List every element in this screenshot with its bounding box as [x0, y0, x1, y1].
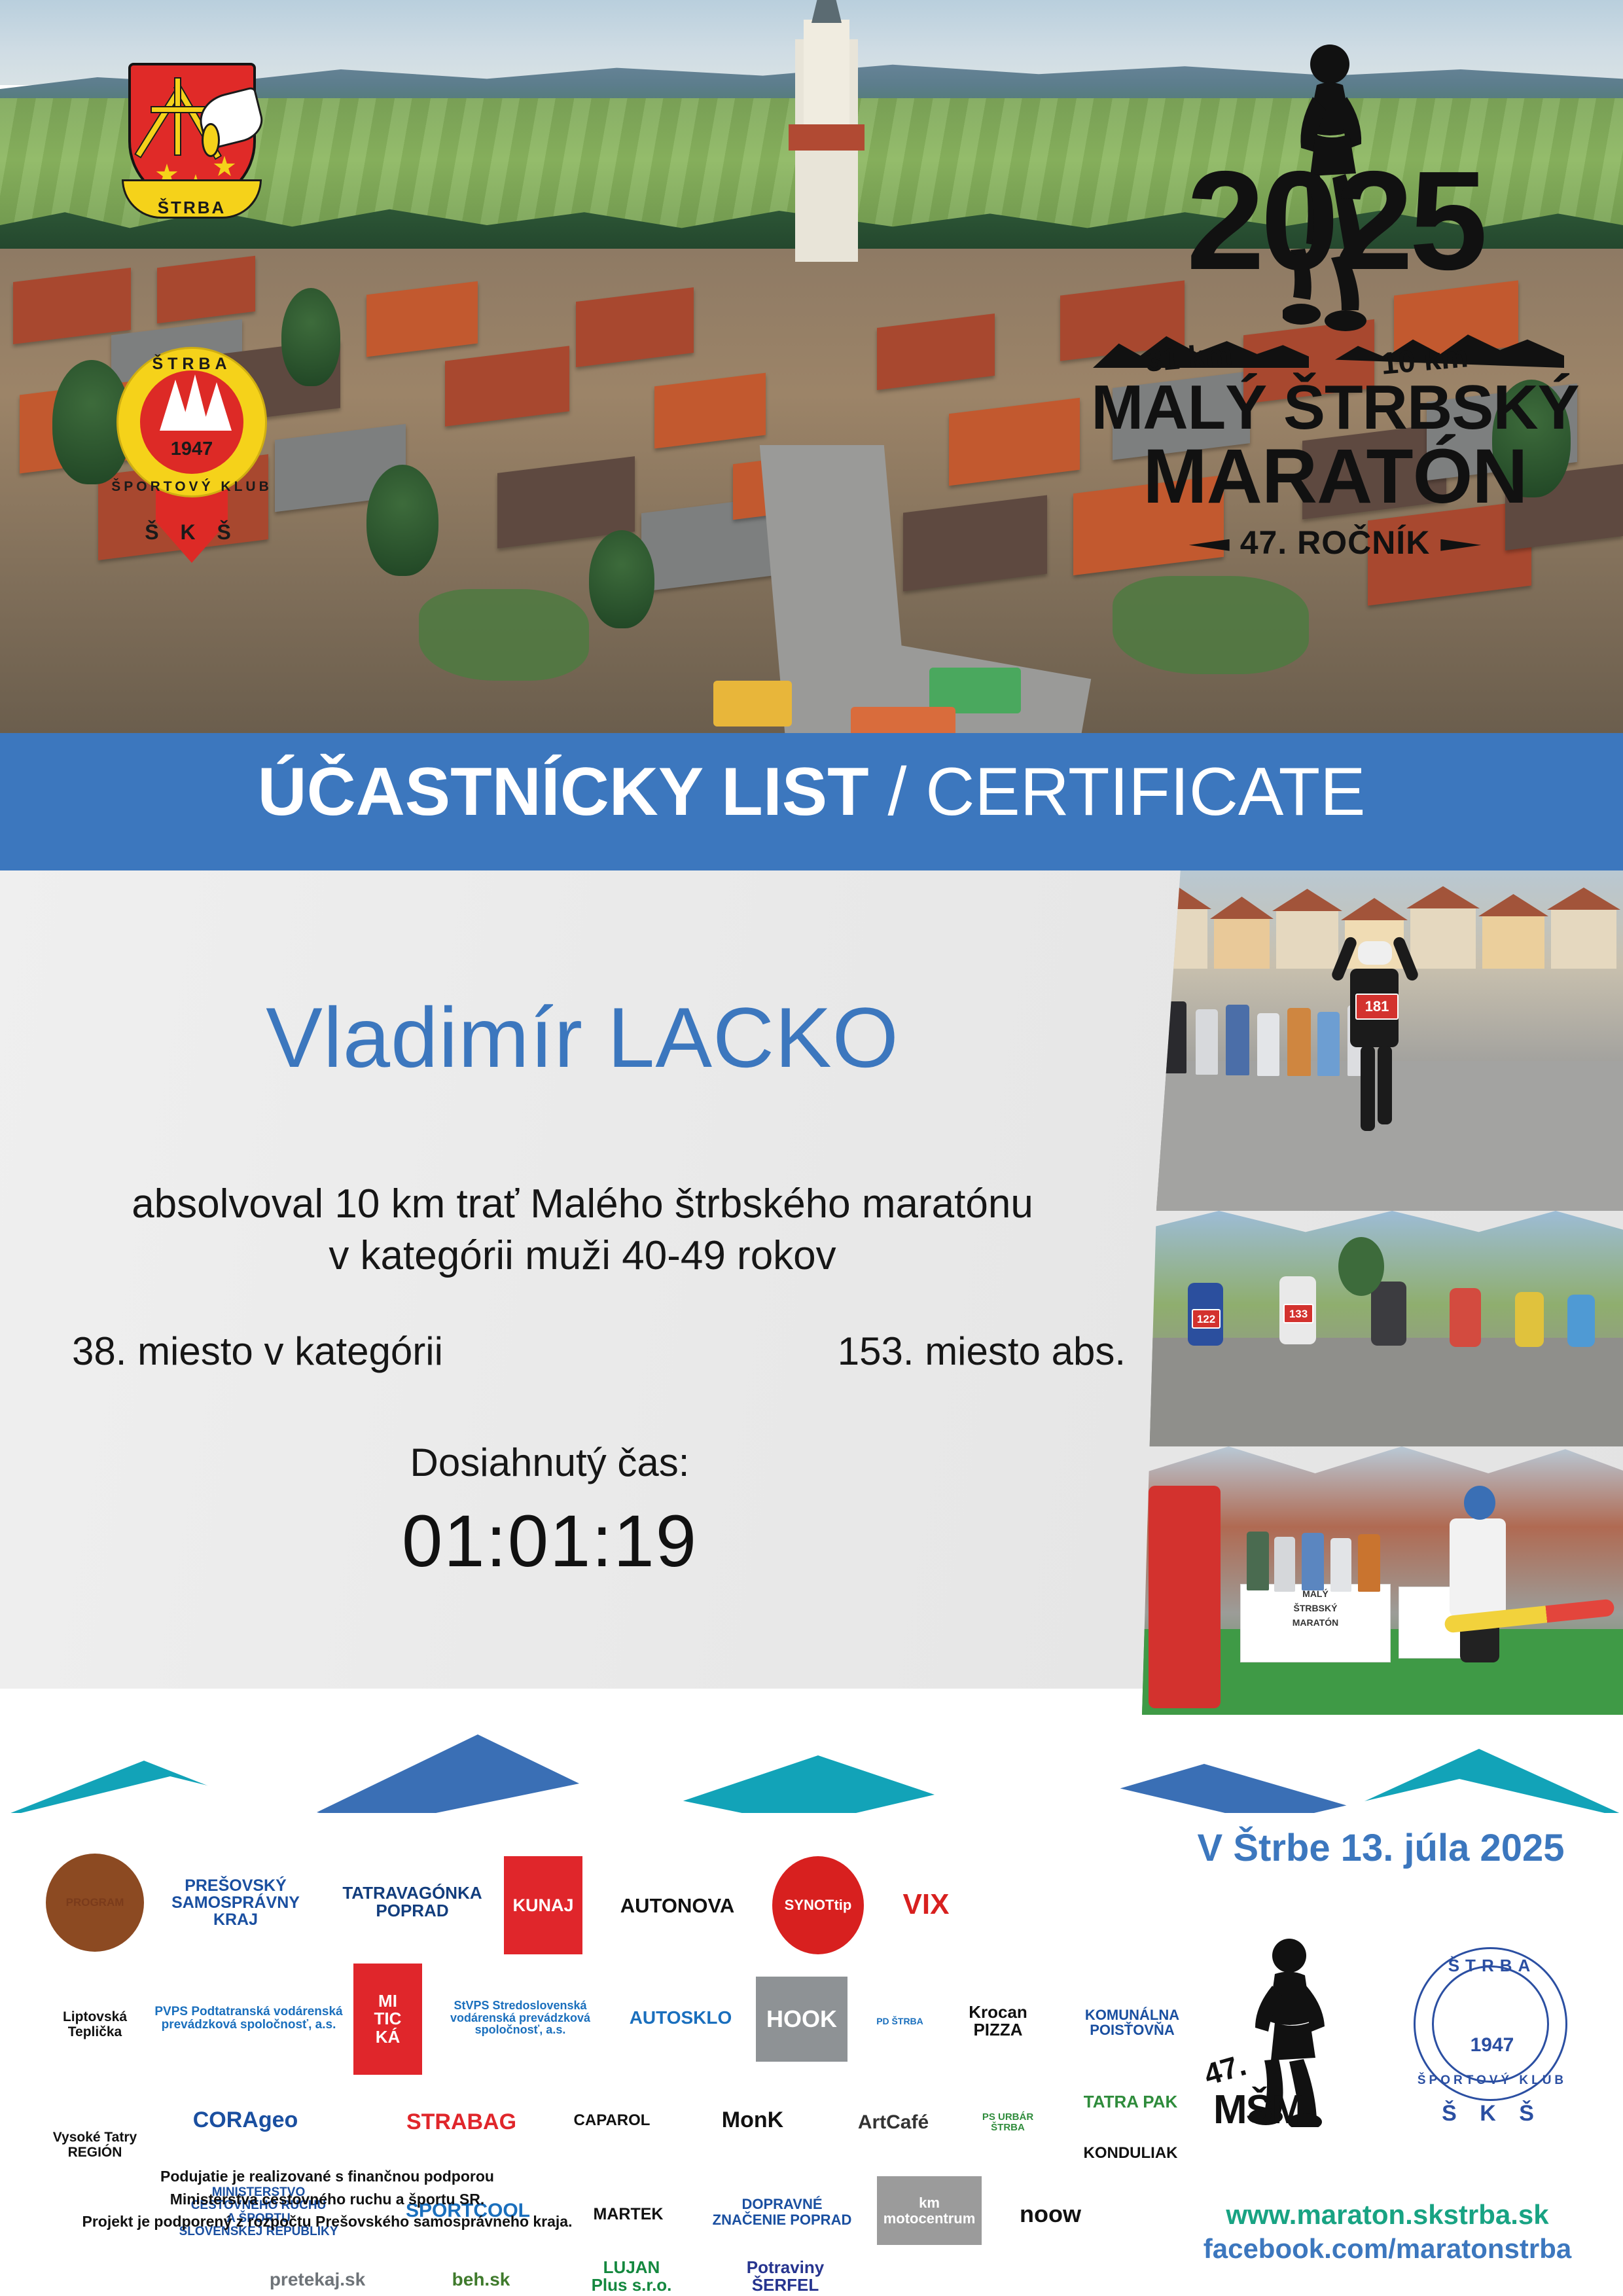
sponsor-name: SYNOTtip [785, 1897, 852, 1912]
stamp-top-label: ŠTRBA [1394, 1956, 1590, 1976]
sponsor-name: Liptovská Teplička [63, 2010, 127, 2039]
sponsor-logo: LUJAN Plus s.r.o. [569, 2244, 694, 2296]
sponsor-name: Potraviny ŠERFEL [747, 2259, 825, 2295]
sponsor-name: TATRAVAGÓNKA POPRAD [342, 1884, 482, 1920]
sks-bottom-label: Š K Š [110, 520, 274, 545]
sponsor-logo-grid: PROGRAMPREŠOVSKÝ SAMOSPRÁVNY KRAJTATRAVA… [46, 1820, 1158, 2186]
msm-abbr: MŠM [1213, 2087, 1304, 2133]
sponsor-name: pretekaj.sk [270, 2270, 365, 2289]
sponsor-name: MI TIC KÁ [374, 1992, 402, 2046]
sks-stamp-logo: ŠTRBA 1947 ŠPORTOVÝ KLUB Š K Š [1394, 1924, 1590, 2140]
sponsor-name: noow [1020, 2202, 1081, 2227]
sponsor-logo: beh.sk [412, 2251, 550, 2296]
sponsor-name: LUJAN Plus s.r.o. [592, 2259, 672, 2295]
description-line-1: absolvoval 10 km trať Malého štrbského m… [39, 1178, 1126, 1230]
stamp-middle-label: ŠPORTOVÝ KLUB [1394, 2073, 1590, 2088]
msm-logo: 47. MŠM [1198, 1931, 1374, 2127]
sks-top-label: ŠTRBA [110, 355, 274, 374]
place-absolute: 153. miesto abs. [838, 1329, 1126, 1374]
sponsor-name: VIX [903, 1890, 950, 1920]
sponsor-name: CORAgeo [193, 2109, 298, 2132]
banner-title-sk: ÚČASTNÍCKY LIST [257, 754, 868, 830]
inflatable-arch [1149, 1486, 1221, 1708]
sponsor-name: AUTONOVA [620, 1895, 735, 1917]
sponsor-name: STRABAG [406, 2111, 516, 2134]
footer-logos: 47. MŠM ŠTRBA 1947 ŠPORTOVÝ KLUB Š K Š [1198, 1918, 1603, 2153]
photo-female-finisher: 181 [1142, 870, 1623, 1211]
sponsor-logo: TATRA PAK [1060, 2076, 1201, 2128]
sponsor-logo: MI TIC KÁ [353, 1964, 422, 2075]
certificate-page: ŠTRBA ŠTRBA 1947 ŠPORTOVÝ KLUB Š K Š [0, 0, 1623, 2296]
arrow-right-icon [1440, 539, 1481, 551]
sponsor-name: KONDULIAK [1084, 2145, 1178, 2161]
sponsor-logo: pretekaj.sk [242, 2251, 393, 2296]
church-spire [811, 0, 842, 23]
sponsor-logo: StVPS Stredoslovenská vodárenská prevádz… [432, 1975, 609, 2060]
support-note-line-1: Podujatie je realizované s finančnou pod… [39, 2165, 615, 2188]
sponsor-logo: AUTONOVA [596, 1859, 759, 1954]
sponsor-logo: DOPRAVNÉ ZNAČENIE POPRAD [700, 2181, 864, 2243]
sponsor-logo: AUTOSKLO [615, 1982, 746, 2054]
finish-line-banner: MALÝ ŠTRBSKÝ MARATÓN [1240, 1584, 1391, 1662]
sponsor-name: AUTOSKLO [630, 2008, 732, 2027]
sponsor-name: PS URBÁR ŠTRBA [982, 2112, 1033, 2133]
sponsor-name: KOMUNÁLNA POISŤOVŇA [1085, 2007, 1179, 2037]
banner-line-2: ŠTRBSKÝ [1241, 1599, 1390, 1613]
photo-bib-number: 122 [1192, 1309, 1221, 1329]
support-note-line-2: Ministerstva cestovného ruchu a športu S… [39, 2188, 615, 2211]
stamp-year-label: 1947 [1394, 2034, 1590, 2056]
banner-title: ÚČASTNÍCKY LIST / CERTIFICATE [0, 758, 1623, 826]
sponsor-logo: PREŠOVSKÝ SAMOSPRÁVNY KRAJ [151, 1867, 321, 1939]
time-label: Dosiahnutý čas: [39, 1440, 1060, 1485]
marathon-title-lockup: 2025 31 km 10 km MALÝ ŠTRBSKÝ MARATÓN 47… [1073, 39, 1597, 589]
sponsor-logo: CAPAROL [556, 2081, 668, 2160]
sponsor-logo: CORAgeo [151, 2081, 340, 2160]
sponsor-logo: noow [998, 2186, 1103, 2242]
contact-links: www.maraton.skstrba.sk facebook.com/mara… [1171, 2199, 1603, 2265]
place-in-category: 38. miesto v kategórii [72, 1329, 443, 1374]
participant-name: Vladimír LACKO [39, 988, 1126, 1086]
sponsor-name: km motocentrum [883, 2195, 976, 2225]
sponsor-name: KUNAJ [512, 1896, 573, 1914]
mountain-divider [0, 1676, 1623, 1833]
facebook-link[interactable]: facebook.com/maratonstrba [1171, 2233, 1603, 2265]
sponsor-name: PVPS Podtatranská vodárenská prevádzková… [151, 2005, 347, 2032]
sks-club-logo: ŠTRBA 1947 ŠPORTOVÝ KLUB Š K Š [110, 327, 274, 596]
banner-separator: / [869, 754, 926, 830]
sponsor-logo: Liptovská Teplička [46, 1967, 144, 2082]
sponsor-logo: STRABAG [386, 2087, 537, 2159]
marathon-edition-row: 47. ROČNÍK [1073, 524, 1597, 562]
marathon-edition: 47. ROČNÍK [1240, 524, 1431, 561]
arrow-left-icon [1189, 539, 1230, 551]
photo-male-finisher: MALÝ ŠTRBSKÝ MARATÓN [1142, 1446, 1623, 1715]
certificate-description: absolvoval 10 km trať Malého štrbského m… [39, 1178, 1126, 1282]
photo-bib-number: 133 [1283, 1304, 1313, 1323]
sponsor-logo: SYNOTtip [772, 1856, 864, 1954]
support-note-line-3: Projekt je podporený z rozpočtu Prešovsk… [39, 2210, 615, 2233]
sponsor-name: MonK [722, 2109, 783, 2132]
sponsor-logo: ArtCafé [831, 2081, 955, 2163]
sponsor-logo: PROGRAM [46, 1854, 144, 1952]
event-place-date: V Štrbe 13. júla 2025 [1171, 1826, 1590, 1870]
ribbon: ŠTRBA [116, 173, 267, 224]
sponsor-name: CAPAROL [574, 2112, 651, 2128]
sponsor-logo: Potraviny ŠERFEL [713, 2244, 857, 2296]
website-link[interactable]: www.maraton.skstrba.sk [1171, 2199, 1603, 2231]
photo-collage: 181 122 133 MALÝ ŠTRBSKÝ MARATÓN [1142, 870, 1623, 1715]
support-note: Podujatie je realizované s finančnou pod… [39, 2165, 615, 2233]
description-line-2: v kategórii muži 40-49 rokov [39, 1230, 1126, 1282]
sponsor-name: DOPRAVNÉ ZNAČENIE POPRAD [713, 2197, 852, 2227]
sponsor-name: HOOK [766, 2007, 837, 2032]
stamp-bottom-label: Š K Š [1394, 2101, 1590, 2126]
sponsor-name: PREŠOVSKÝ SAMOSPRÁVNY KRAJ [171, 1877, 300, 1929]
sponsor-name: ArtCafé [858, 2112, 929, 2133]
sponsor-logo: km motocentrum [877, 2176, 982, 2245]
church-roof [789, 124, 865, 151]
sponsor-name: Vysoké Tatry REGIÓN [53, 2130, 137, 2159]
banner-title-en: CERTIFICATE [925, 754, 1365, 830]
sponsor-logo: KOMUNÁLNA POISŤOVŇA [1057, 1986, 1207, 2058]
sponsor-name: TATRA PAK [1084, 2093, 1177, 2111]
banner-line-3: MARATÓN [1241, 1613, 1390, 1628]
sks-middle-label: ŠPORTOVÝ KLUB [110, 479, 274, 495]
church-tower [804, 20, 849, 124]
photo-trail-runners: 122 133 [1142, 1211, 1623, 1446]
photo-bib-number: 181 [1355, 994, 1399, 1020]
sponsor-logo: PS URBÁR ŠTRBA [969, 2080, 1047, 2165]
cuff [202, 123, 220, 157]
sponsor-logo: KONDULIAK [1060, 2127, 1201, 2179]
sks-year-label: 1947 [110, 439, 274, 460]
sponsor-logo: MonK [687, 2083, 818, 2158]
marathon-year: 2025 [1073, 157, 1597, 284]
distance-ridges: 31 km 10 km [1086, 308, 1584, 380]
sponsor-logo: KUNAJ [504, 1856, 582, 1954]
placement-row: 38. miesto v kategórii 153. miesto abs. [72, 1329, 1126, 1374]
sponsor-name: PROGRAM [66, 1897, 124, 1909]
strba-coat-of-arms-logo: ŠTRBA [116, 63, 267, 233]
sponsor-logo: Krocan PIZZA [952, 1975, 1044, 2067]
sponsor-logo: TATRAVAGÓNKA POPRAD [327, 1869, 497, 1935]
coa-label: ŠTRBA [116, 198, 267, 218]
sponsor-name: PD ŠTRBA [876, 2017, 923, 2026]
sponsor-name: Krocan PIZZA [969, 2003, 1027, 2039]
sponsor-name: StVPS Stredoslovenská vodárenská prevádz… [432, 2000, 609, 2037]
sponsor-logo: HOOK [756, 1977, 847, 2062]
sponsor-name: beh.sk [452, 2270, 510, 2289]
sponsor-logo: PVPS Podtatranská vodárenská prevádzková… [151, 1974, 347, 2062]
sponsor-logo: PD ŠTRBA [857, 1975, 942, 2067]
sponsor-logo: VIX [877, 1857, 975, 1952]
time-value: 01:01:19 [39, 1499, 1060, 1583]
marathon-title-line2: MARATÓN [1073, 432, 1597, 521]
